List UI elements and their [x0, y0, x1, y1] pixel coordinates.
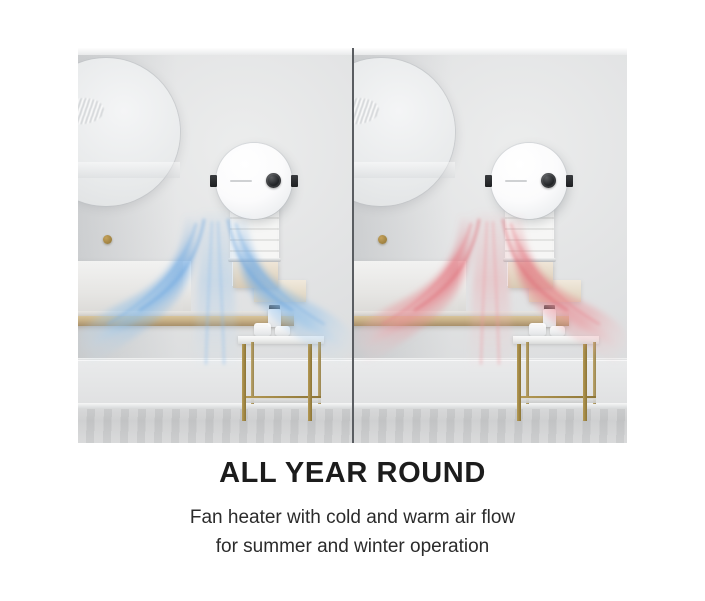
panel-divider — [352, 48, 354, 443]
table-leg-front-right — [583, 344, 587, 421]
heater-control-dial-icon — [266, 173, 281, 188]
light-reflection — [78, 95, 106, 127]
towel-bar — [228, 258, 281, 262]
toiletry-jar-left — [254, 323, 271, 336]
fan-heater-unit-cold — [216, 143, 292, 219]
fan-heater-unit-warm — [491, 143, 567, 219]
product-feature-card: ALL YEAR ROUND Fan heater with cold and … — [0, 0, 705, 601]
table-leg-front-right — [308, 344, 312, 421]
toiletry-jar-right — [550, 326, 565, 336]
subtext-line-2: for summer and winter operation — [0, 532, 705, 561]
scene-panel-cold — [78, 48, 352, 443]
side-table-cold — [238, 336, 324, 421]
brass-wall-knob-icon — [103, 235, 112, 244]
scene-panel-warm — [353, 48, 627, 443]
heater-bracket-left — [210, 175, 217, 187]
vanity-side-face — [458, 261, 466, 316]
heater-bracket-right — [291, 175, 298, 187]
table-leg-back-right — [318, 342, 321, 404]
caption-block: ALL YEAR ROUND Fan heater with cold and … — [0, 458, 705, 561]
light-reflection — [353, 95, 381, 127]
mirror-reflection-band — [78, 162, 180, 178]
toiletry-jar-left — [529, 323, 546, 336]
heater-bracket-left — [485, 175, 492, 187]
side-table-warm — [513, 336, 599, 421]
table-leg-back-right — [593, 342, 596, 404]
stone-vanity-block — [78, 261, 184, 316]
stone-vanity-block — [353, 261, 459, 316]
table-leg-back-left — [251, 342, 254, 404]
heater-bracket-right — [566, 175, 573, 187]
toiletry-jar-right — [275, 326, 290, 336]
folded-towel — [233, 262, 278, 288]
table-leg-back-left — [526, 342, 529, 404]
ceiling-strip — [78, 48, 352, 55]
heater-brand-mark — [505, 180, 527, 182]
heater-control-dial-icon — [541, 173, 556, 188]
ceiling-strip — [353, 48, 627, 55]
headline: ALL YEAR ROUND — [0, 458, 705, 490]
brass-wall-knob-icon — [378, 235, 387, 244]
towel-bar — [503, 258, 556, 262]
table-leg-front-left — [242, 344, 246, 421]
mirror-reflection-band — [353, 162, 455, 178]
folded-towel — [508, 262, 553, 288]
vanity-side-face — [183, 261, 191, 316]
heater-brand-mark — [230, 180, 252, 182]
table-leg-front-left — [517, 344, 521, 421]
subtext-line-1: Fan heater with cold and warm air flow — [0, 490, 705, 532]
product-scene-photo — [78, 48, 627, 443]
